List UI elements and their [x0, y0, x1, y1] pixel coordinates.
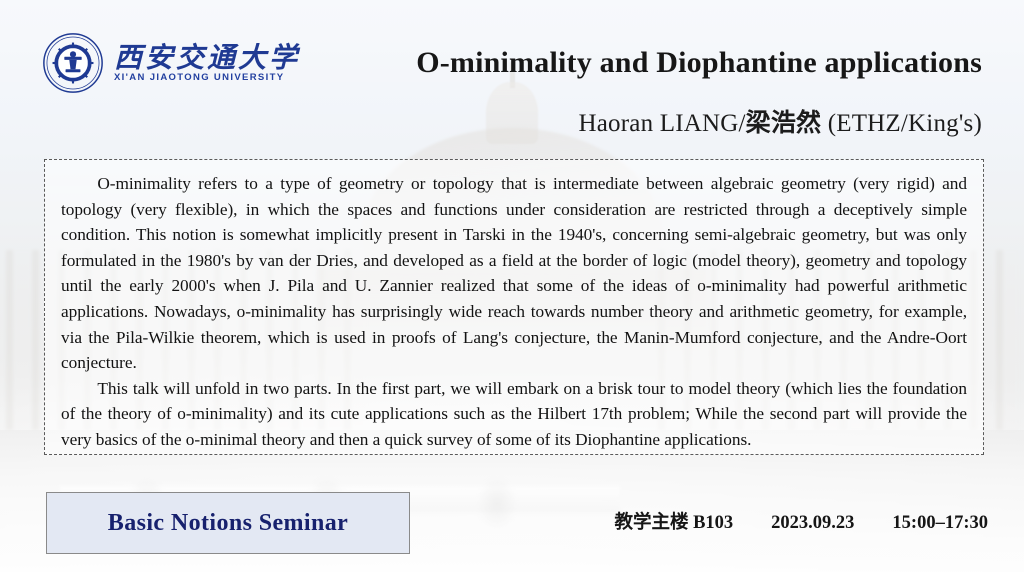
abstract-paragraph-1: O-minimality refers to a type of geometr… [61, 171, 967, 376]
abstract-box: O-minimality refers to a type of geometr… [44, 159, 984, 455]
university-seal-icon [42, 32, 104, 94]
abstract-paragraph-2: This talk will unfold in two parts. In t… [61, 376, 967, 453]
speaker-latin-name: Haoran LIANG/ [579, 110, 746, 137]
seminar-series-label: Basic Notions Seminar [108, 510, 348, 537]
logo-chinese-name: 西安交通大学 [114, 44, 300, 72]
poster-header: 西安交通大学 XI'AN JIAOTONG UNIVERSITY O-minim… [0, 0, 1024, 150]
event-details: 教学主楼 B103 2023.09.23 15:00–17:30 [614, 508, 988, 534]
speaker-line: Haoran LIANG/梁浩然 (ETHZ/King's) [579, 103, 983, 139]
seminar-series-badge: Basic Notions Seminar [46, 492, 410, 554]
logo-wordmark: 西安交通大学 XI'AN JIAOTONG UNIVERSITY [114, 44, 300, 83]
university-logo: 西安交通大学 XI'AN JIAOTONG UNIVERSITY [42, 32, 300, 94]
speaker-affiliation: (ETHZ/King's) [821, 110, 982, 137]
speaker-chinese-name: 梁浩然 [746, 110, 822, 137]
event-venue: 教学主楼 B103 [614, 508, 733, 534]
logo-english-name: XI'AN JIAOTONG UNIVERSITY [114, 73, 300, 83]
event-date: 2023.09.23 [771, 513, 854, 534]
event-time: 15:00–17:30 [892, 513, 988, 534]
page-title: O-minimality and Diophantine application… [416, 46, 982, 80]
seminar-poster: 西安交通大学 XI'AN JIAOTONG UNIVERSITY O-minim… [0, 0, 1024, 572]
